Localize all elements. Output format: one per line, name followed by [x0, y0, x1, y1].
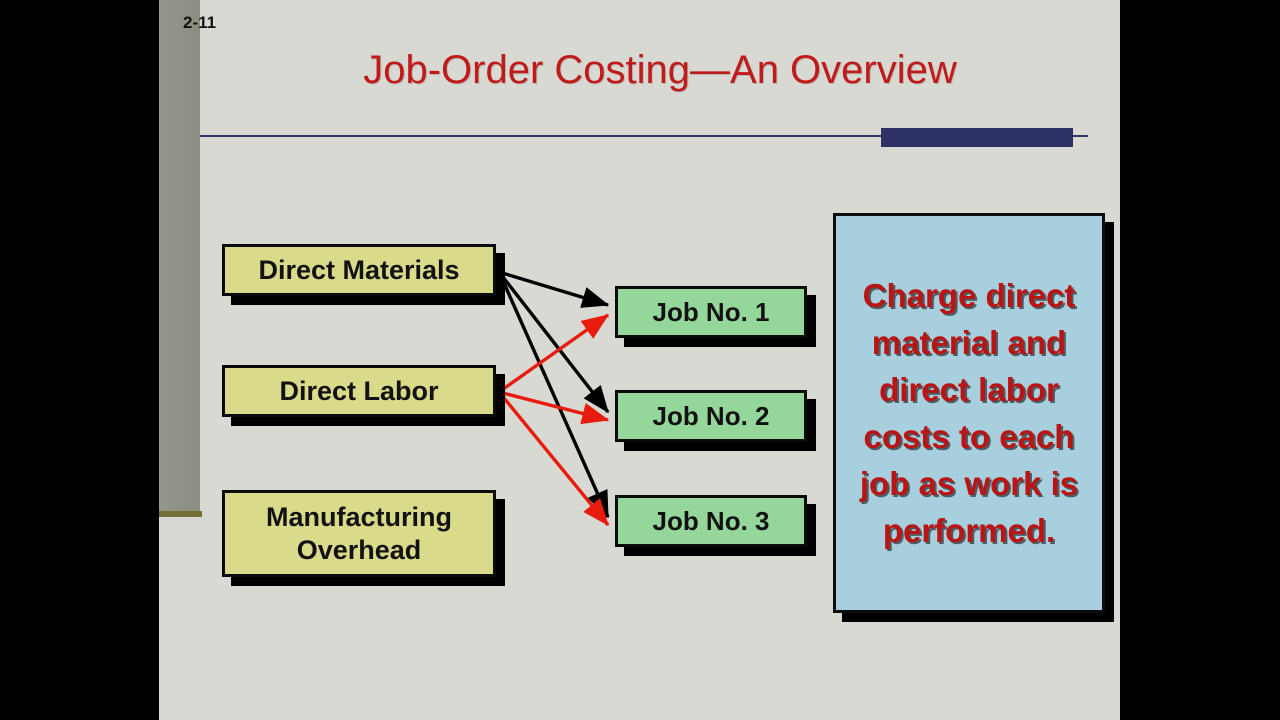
title-divider-block	[881, 128, 1073, 147]
arrow-direct-labor-to-job-3	[499, 392, 608, 525]
cost-box-manufacturing-overhead-label: Manufacturing Overhead	[225, 501, 493, 567]
presentation-viewport: 2-11 Job-Order Costing—An Overview	[0, 0, 1280, 720]
cost-box-direct-labor[interactable]: Direct Labor	[222, 365, 496, 417]
arrow-direct-labor-to-job-1	[499, 315, 608, 392]
slide-number: 2-11	[183, 13, 216, 33]
cost-box-direct-labor-label: Direct Labor	[225, 375, 493, 408]
slide-sidebar-band	[159, 0, 200, 515]
arrow-direct-materials-to-job-3	[499, 272, 608, 517]
cost-box-direct-materials[interactable]: Direct Materials	[222, 244, 496, 296]
job-box-2[interactable]: Job No. 2	[615, 390, 807, 442]
slide-canvas: 2-11 Job-Order Costing—An Overview	[159, 0, 1120, 720]
callout-box[interactable]: Charge direct material and direct labor …	[833, 213, 1105, 613]
arrow-direct-materials-to-job-2	[499, 272, 608, 412]
cost-box-manufacturing-overhead[interactable]: Manufacturing Overhead	[222, 490, 496, 577]
job-box-2-label: Job No. 2	[618, 400, 804, 432]
callout-text: Charge direct material and direct labor …	[846, 272, 1092, 554]
job-box-1-label: Job No. 1	[618, 296, 804, 328]
job-box-1[interactable]: Job No. 1	[615, 286, 807, 338]
arrow-direct-materials-to-job-1	[499, 272, 608, 305]
arrow-direct-labor-to-job-2	[499, 392, 608, 420]
job-box-3-label: Job No. 3	[618, 505, 804, 537]
slide-sidebar-rule	[159, 511, 202, 517]
slide-title: Job-Order Costing—An Overview	[200, 44, 1120, 96]
cost-box-direct-materials-label: Direct Materials	[225, 254, 493, 287]
job-box-3[interactable]: Job No. 3	[615, 495, 807, 547]
